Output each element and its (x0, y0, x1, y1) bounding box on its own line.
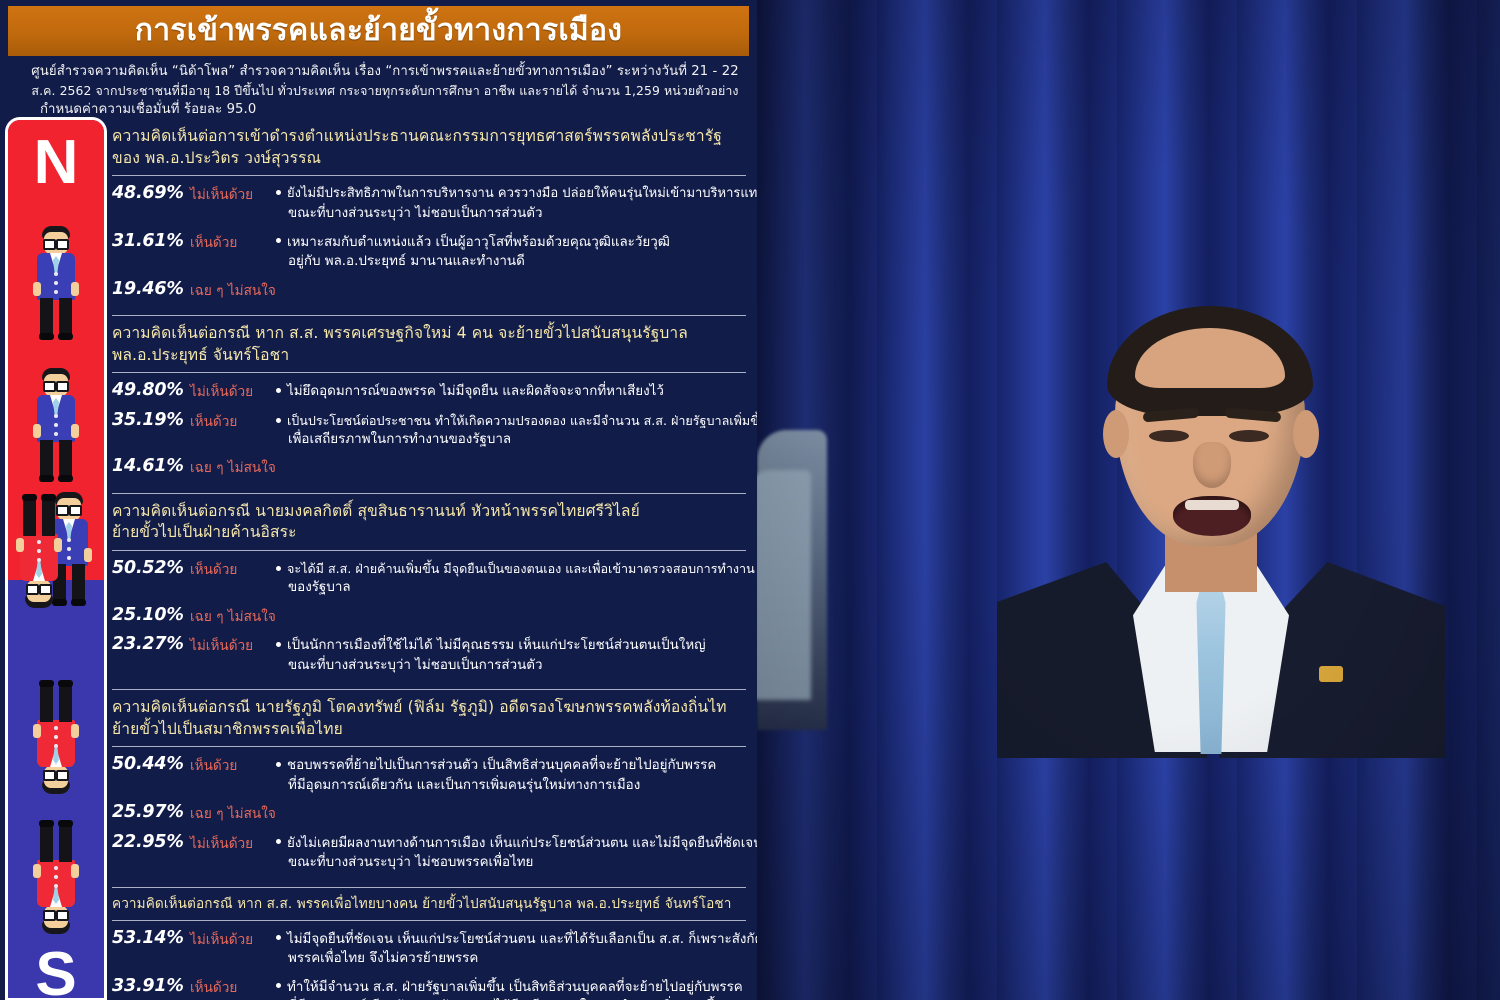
shoe-left-icon (41, 494, 56, 501)
leg-left-icon (42, 496, 55, 536)
reason-text: ยังไม่เคยมีผลงานทางด้านการเมือง เห็นแก่ป… (287, 836, 757, 851)
eye-right (1229, 430, 1269, 442)
hand-right-icon (71, 282, 79, 296)
reason-line: พรรคเพื่อไทย จึงไม่ควรย้ายพรรค (276, 949, 757, 969)
reason-text: อยู่กับ พล.อ.ประยุทธ์ มานานและทำงานดี (288, 254, 525, 269)
section-separator (112, 887, 746, 888)
answer-row: 22.95%ไม่เห็นด้วยยังไม่เคยมีผลงานทางด้าน… (112, 832, 746, 873)
answer-reason: ไม่มีจุดยืนที่ชัดเจน เห็นแก่ประโยชน์ส่วน… (272, 928, 757, 969)
reason-text: เพื่อเสถียรภาพในการทำงานของรัฐบาล (288, 432, 511, 447)
bullet-icon (276, 839, 281, 844)
magnet-north-label: N (8, 132, 104, 194)
answer-reason: ยังไม่มีประสิทธิภาพในการบริหารงาน ควรวาง… (272, 183, 757, 224)
shoe-left-icon (39, 333, 54, 340)
percentage-value: 50.52% (112, 558, 190, 580)
answer-reason: เป็นประโยชน์ต่อประชาชน ทำให้เกิดความปรอง… (272, 410, 757, 450)
answer-label: เฉย ๆ ไม่สนใจ (190, 605, 276, 627)
leg-right-icon (72, 564, 85, 604)
hair (1107, 306, 1313, 416)
answer-reason: ไม่ยึดอุดมการณ์ของพรรค ไม่มีจุดยืน และผิ… (272, 380, 746, 402)
answer-row: 33.91%เห็นด้วยทำให้มีจำนวน ส.ส. ฝ่ายรัฐบ… (112, 976, 746, 1000)
poll-section: ความคิดเห็นต่อกรณี หาก ส.ส. พรรคเพื่อไทย… (112, 887, 746, 1000)
heading-underline (112, 746, 746, 747)
eye-left (1149, 430, 1189, 442)
person-figure-upright (29, 362, 83, 482)
leg-left-icon (59, 682, 72, 722)
infographic-panel: การเข้าพรรคและย้ายขั้วทางการเมือง ศูนย์ส… (0, 0, 757, 1000)
intro-line-1: ศูนย์สำรวจความคิดเห็น “นิด้าโพล” สำรวจคว… (30, 62, 740, 82)
answer-row: 35.19%เห็นด้วยเป็นประโยชน์ต่อประชาชน ทำใ… (112, 410, 746, 450)
hand-left-icon (33, 424, 41, 438)
bullet-icon (276, 935, 281, 940)
answer-reason: เป็นนักการเมืองที่ใช้ไม่ได้ ไม่มีคุณธรรม… (272, 634, 746, 675)
hand-left-icon (33, 282, 41, 296)
leg-left-icon (59, 822, 72, 862)
reason-line: ยังไม่มีประสิทธิภาพในการบริหารงาน ควรวาง… (276, 185, 757, 204)
reason-text: ไม่ยึดอุดมการณ์ของพรรค ไม่มีจุดยืน และผิ… (287, 384, 664, 399)
answer-reason: จะได้มี ส.ส. ฝ่ายค้านเพิ่มขึ้น มีจุดยืนเ… (272, 558, 755, 598)
reason-text: ชอบพรรคที่ย้ายไปเป็นการส่วนตัว เป็นสิทธิ… (287, 758, 716, 773)
reason-line: ขณะที่บางส่วนระบุว่า ไม่ชอบพรรคเพื่อไทย (276, 853, 757, 873)
person-figure-inverted (12, 494, 66, 614)
reason-line: ขณะที่บางส่วนระบุว่า ไม่ชอบเป็นการส่วนตั… (276, 656, 746, 676)
answer-reason: เหมาะสมกับตำแหน่งแล้ว เป็นผู้อาวุโสที่พร… (272, 231, 746, 272)
answer-label: เห็นด้วย (190, 231, 272, 253)
answer-label: เห็นด้วย (190, 976, 272, 998)
nose (1193, 442, 1231, 488)
answer-reason (276, 279, 746, 281)
question-heading-line: ย้ายขั้วไปเป็นฝ่ายค้านอิสระ (112, 522, 746, 544)
hand-left-icon (54, 538, 62, 552)
reason-line: ไม่มีจุดยืนที่ชัดเจน เห็นแก่ประโยชน์ส่วน… (276, 930, 757, 950)
answer-row: 53.14%ไม่เห็นด้วยไม่มีจุดยืนที่ชัดเจน เห… (112, 928, 746, 969)
reason-line: อยู่กับ พล.อ.ประยุทธ์ มานานและทำงานดี (276, 252, 746, 272)
section-separator (112, 493, 746, 494)
poll-section: ความคิดเห็นต่อการเข้าดำรงตำแหน่งประธานคณ… (112, 126, 746, 309)
reason-line: ของรัฐบาล (276, 578, 755, 598)
answer-row: 31.61%เห็นด้วยเหมาะสมกับตำแหน่งแล้ว เป็น… (112, 231, 746, 272)
shoe-left-icon (58, 680, 73, 687)
percentage-value: 25.10% (112, 605, 190, 627)
buttons-icon (37, 538, 41, 562)
bullet-icon (276, 190, 281, 195)
reason-text: เหมาะสมกับตำแหน่งแล้ว เป็นผู้อาวุโสที่พร… (287, 235, 670, 250)
reason-text: ขณะที่บางส่วนระบุว่า ไม่ชอบพรรคเพื่อไทย (288, 855, 533, 870)
section-separator (112, 689, 746, 690)
magnet-illustration: N S (8, 120, 104, 998)
answer-label: ไม่เห็นด้วย (190, 928, 272, 950)
question-heading: ความคิดเห็นต่อกรณี นายรัฐภูมิ โตคงทรัพย์… (112, 697, 746, 740)
bullet-icon (276, 238, 281, 243)
percentage-value: 48.69% (112, 183, 190, 205)
question-heading-line: พล.อ.ประยุทธ์ จันทร์โอชา (112, 345, 746, 367)
question-heading-line: ความคิดเห็นต่อกรณี หาก ส.ส. พรรคเศรษฐกิจ… (112, 323, 746, 345)
answer-label: เฉย ๆ ไม่สนใจ (190, 802, 276, 824)
hand-right-icon (33, 724, 41, 738)
magnet-south-label: S (8, 944, 104, 998)
leg-right-icon (23, 496, 36, 536)
answer-rows: 50.52%เห็นด้วยจะได้มี ส.ส. ฝ่ายค้านเพิ่ม… (112, 558, 746, 675)
answer-row: 25.97%เฉย ๆ ไม่สนใจ (112, 802, 746, 824)
reason-line: เหมาะสมกับตำแหน่งแล้ว เป็นผู้อาวุโสที่พร… (276, 233, 746, 253)
reason-text: ทำให้มีจำนวน ส.ส. ฝ่ายรัฐบาลเพิ่มขึ้น เป… (287, 980, 743, 995)
leg-right-icon (59, 298, 72, 338)
reason-text: ขณะที่บางส่วนระบุว่า ไม่ชอบเป็นการส่วนตั… (288, 658, 542, 673)
buttons-icon (54, 272, 58, 296)
percentage-value: 31.61% (112, 231, 190, 253)
answer-rows: 53.14%ไม่เห็นด้วยไม่มีจุดยืนที่ชัดเจน เห… (112, 928, 746, 1000)
hand-right-icon (33, 864, 41, 878)
answer-reason (276, 605, 746, 607)
glasses-icon (43, 239, 69, 246)
question-heading: ความคิดเห็นต่อกรณี หาก ส.ส. พรรคเศรษฐกิจ… (112, 323, 746, 366)
hand-right-icon (16, 538, 24, 552)
bullet-icon (276, 642, 281, 647)
question-heading-line: ย้ายขั้วไปเป็นสมาชิกพรรคเพื่อไทย (112, 719, 746, 741)
bullet-icon (276, 418, 281, 423)
speaker-figure (1007, 318, 1437, 748)
answer-label: เห็นด้วย (190, 754, 272, 776)
answer-reason (276, 802, 746, 804)
reason-text: ที่มีอุดมการณ์เดียวกัน และเป็นการเพิ่มคน… (288, 778, 640, 793)
press-conference-photo (757, 0, 1500, 1000)
question-heading-line: ความคิดเห็นต่อกรณี นายรัฐภูมิ โตคงทรัพย์… (112, 697, 746, 719)
answer-label: ไม่เห็นด้วย (190, 832, 272, 854)
answer-reason: ชอบพรรคที่ย้ายไปเป็นการส่วนตัว เป็นสิทธิ… (272, 754, 746, 795)
percentage-value: 25.97% (112, 802, 190, 824)
answer-row: 50.52%เห็นด้วยจะได้มี ส.ส. ฝ่ายค้านเพิ่ม… (112, 558, 746, 598)
glasses-icon (43, 381, 69, 388)
reason-line: ไม่ยึดอุดมการณ์ของพรรค ไม่มีจุดยืน และผิ… (276, 382, 746, 402)
intro-line-3: กำหนดค่าความเชื่อมั่นที่ ร้อยละ 95.0 (30, 100, 740, 120)
bullet-icon (276, 762, 281, 767)
shoe-right-icon (39, 820, 54, 827)
percentage-value: 33.91% (112, 976, 190, 998)
reason-line: เป็นนักการเมืองที่ใช้ไม่ได้ ไม่มีคุณธรรม… (276, 636, 746, 656)
answer-label: ไม่เห็นด้วย (190, 380, 272, 402)
answer-row: 50.44%เห็นด้วยชอบพรรคที่ย้ายไปเป็นการส่ว… (112, 754, 746, 795)
reason-line: ขณะที่บางส่วนระบุว่า ไม่ชอบเป็นการส่วนตั… (276, 204, 757, 224)
buttons-icon (67, 538, 71, 562)
shoe-left-icon (39, 475, 54, 482)
bullet-icon (276, 566, 281, 571)
answer-row: 19.46%เฉย ๆ ไม่สนใจ (112, 279, 746, 301)
hand-right-icon (71, 424, 79, 438)
percentage-value: 22.95% (112, 832, 190, 854)
percentage-value: 23.27% (112, 634, 190, 656)
person-figure-upright (29, 220, 83, 340)
glasses-icon (26, 588, 52, 595)
answer-rows: 50.44%เห็นด้วยชอบพรรคที่ย้ายไปเป็นการส่ว… (112, 754, 746, 873)
ear-left (1103, 410, 1129, 458)
mouth-speaking (1173, 496, 1251, 536)
buttons-icon (54, 414, 58, 438)
intro-line-2: ส.ค. 2562 จากประชาชนที่มีอายุ 18 ปีขึ้นไ… (30, 82, 740, 100)
percentage-value: 14.61% (112, 456, 190, 478)
answer-row: 25.10%เฉย ๆ ไม่สนใจ (112, 605, 746, 627)
glasses-icon (43, 914, 69, 921)
reason-line: เป็นประโยชน์ต่อประชาชน ทำให้เกิดความปรอง… (276, 412, 757, 430)
answer-rows: 49.80%ไม่เห็นด้วยไม่ยึดอุดมการณ์ของพรรค … (112, 380, 746, 479)
ear-right (1293, 410, 1319, 458)
percentage-value: 19.46% (112, 279, 190, 301)
question-heading-line: ของ พล.อ.ประวิตร วงษ์สุวรรณ (112, 148, 746, 170)
reason-text: ยังไม่มีประสิทธิภาพในการบริหารงาน ควรวาง… (287, 186, 757, 201)
answer-label: เฉย ๆ ไม่สนใจ (190, 279, 276, 301)
page-title: การเข้าพรรคและย้ายขั้วทางการเมือง (135, 16, 622, 46)
buttons-icon (54, 864, 58, 888)
answer-label: เฉย ๆ ไม่สนใจ (190, 456, 276, 478)
leg-right-icon (59, 440, 72, 480)
reason-line: ทำให้มีจำนวน ส.ส. ฝ่ายรัฐบาลเพิ่มขึ้น เป… (276, 978, 746, 998)
shoe-right-icon (22, 494, 37, 501)
section-separator (112, 315, 746, 316)
reason-line: ที่มีอุดมการณ์เดียวกัน และเป็นการเพิ่มคน… (276, 776, 746, 796)
leg-left-icon (40, 298, 53, 338)
leg-left-icon (40, 440, 53, 480)
percentage-value: 49.80% (112, 380, 190, 402)
question-heading-line: ความคิดเห็นต่อกรณี นายมงคลกิตติ์ สุขสินธ… (112, 501, 746, 523)
answer-reason (276, 456, 746, 458)
answer-label: ไม่เห็นด้วย (190, 634, 272, 656)
reason-line: ยังไม่เคยมีผลงานทางด้านการเมือง เห็นแก่ป… (276, 834, 757, 854)
answer-label: เห็นด้วย (190, 410, 272, 432)
intro-paragraph: ศูนย์สำรวจความคิดเห็น “นิด้าโพล” สำรวจคว… (30, 62, 740, 119)
poll-results: ความคิดเห็นต่อการเข้าดำรงตำแหน่งประธานคณ… (112, 126, 746, 1000)
glasses-icon (43, 774, 69, 781)
poll-infographic-page: การเข้าพรรคและย้ายขั้วทางการเมือง ศูนย์ส… (0, 0, 1500, 1000)
poll-section: ความคิดเห็นต่อกรณี นายมงคลกิตติ์ สุขสินธ… (112, 493, 746, 683)
hand-left-icon (71, 724, 79, 738)
person-figure-inverted (29, 820, 83, 940)
buttons-icon (54, 724, 58, 748)
heading-underline (112, 175, 746, 176)
hand-left-icon (71, 864, 79, 878)
answer-row: 23.27%ไม่เห็นด้วยเป็นนักการเมืองที่ใช้ไม… (112, 634, 746, 675)
reason-text: เป็นนักการเมืองที่ใช้ไม่ได้ ไม่มีคุณธรรม… (287, 638, 706, 653)
shoe-right-icon (58, 475, 73, 482)
leg-right-icon (40, 682, 53, 722)
leg-right-icon (40, 822, 53, 862)
heading-underline (112, 372, 746, 373)
answer-row: 14.61%เฉย ๆ ไม่สนใจ (112, 456, 746, 478)
shoe-left-icon (58, 820, 73, 827)
percentage-value: 35.19% (112, 410, 190, 432)
answer-reason: ทำให้มีจำนวน ส.ส. ฝ่ายรัฐบาลเพิ่มขึ้น เป… (272, 976, 746, 1000)
person-figure-inverted (29, 680, 83, 800)
reason-text: ของรัฐบาล (288, 580, 351, 595)
reason-line: จะได้มี ส.ส. ฝ่ายค้านเพิ่มขึ้น มีจุดยืนเ… (276, 560, 755, 578)
answer-row: 49.80%ไม่เห็นด้วยไม่ยึดอุดมการณ์ของพรรค … (112, 380, 746, 402)
poll-section: ความคิดเห็นต่อกรณี นายรัฐภูมิ โตคงทรัพย์… (112, 689, 746, 881)
reason-text: จะได้มี ส.ส. ฝ่ายค้านเพิ่มขึ้น มีจุดยืนเ… (287, 561, 755, 576)
lapel-pin (1319, 666, 1343, 682)
reason-text: เป็นประโยชน์ต่อประชาชน ทำให้เกิดความปรอง… (287, 413, 757, 428)
question-heading-line: ความคิดเห็นต่อกรณี หาก ส.ส. พรรคเพื่อไทย… (112, 895, 746, 914)
answer-label: ไม่เห็นด้วย (190, 183, 272, 205)
answer-reason: ยังไม่เคยมีผลงานทางด้านการเมือง เห็นแก่ป… (272, 832, 757, 873)
reason-line: ชอบพรรคที่ย้ายไปเป็นการส่วนตัว เป็นสิทธิ… (276, 756, 746, 776)
shoe-right-icon (39, 680, 54, 687)
background-person-coat (757, 470, 811, 700)
reason-text: ไม่มีจุดยืนที่ชัดเจน เห็นแก่ประโยชน์ส่วน… (287, 932, 757, 947)
bullet-icon (276, 388, 281, 393)
reason-text: ขณะที่บางส่วนระบุว่า ไม่ชอบเป็นการส่วนตั… (288, 206, 542, 221)
hand-right-icon (84, 548, 92, 562)
magnet-bar: N S (8, 120, 104, 998)
shoe-right-icon (58, 333, 73, 340)
question-heading: ความคิดเห็นต่อกรณี หาก ส.ส. พรรคเพื่อไทย… (112, 895, 746, 914)
percentage-value: 50.44% (112, 754, 190, 776)
heading-underline (112, 550, 746, 551)
question-heading: ความคิดเห็นต่อการเข้าดำรงตำแหน่งประธานคณ… (112, 126, 746, 169)
bullet-icon (276, 983, 281, 988)
question-heading: ความคิดเห็นต่อกรณี นายมงคลกิตติ์ สุขสินธ… (112, 501, 746, 544)
reason-text: พรรคเพื่อไทย จึงไม่ควรย้ายพรรค (288, 951, 478, 966)
answer-label: เห็นด้วย (190, 558, 272, 580)
title-bar: การเข้าพรรคและย้ายขั้วทางการเมือง (8, 6, 749, 56)
shoe-right-icon (71, 599, 86, 606)
answer-row: 48.69%ไม่เห็นด้วยยังไม่มีประสิทธิภาพในกา… (112, 183, 746, 224)
percentage-value: 53.14% (112, 928, 190, 950)
poll-section: ความคิดเห็นต่อกรณี หาก ส.ส. พรรคเศรษฐกิจ… (112, 315, 746, 487)
question-heading-line: ความคิดเห็นต่อการเข้าดำรงตำแหน่งประธานคณ… (112, 126, 746, 148)
heading-underline (112, 920, 746, 921)
answer-rows: 48.69%ไม่เห็นด้วยยังไม่มีประสิทธิภาพในกา… (112, 183, 746, 301)
reason-line: เพื่อเสถียรภาพในการทำงานของรัฐบาล (276, 430, 757, 450)
